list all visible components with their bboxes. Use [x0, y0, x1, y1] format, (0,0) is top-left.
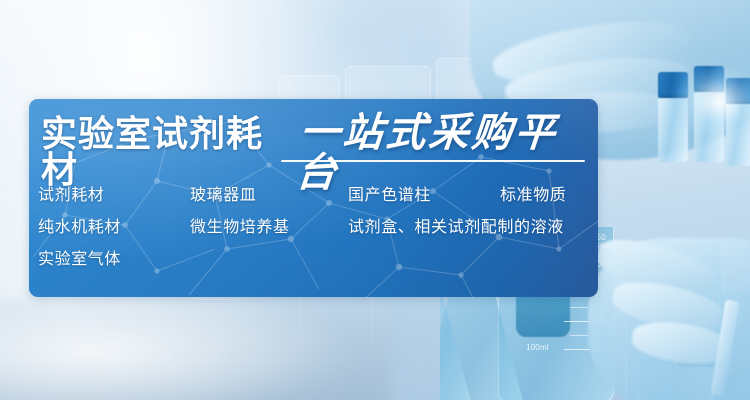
category-item[interactable]: 试剂耗材: [38, 179, 104, 211]
category-item[interactable]: 玻璃器皿: [190, 179, 256, 211]
category-item[interactable]: 实验室气体: [38, 243, 121, 275]
category-item[interactable]: 试剂盒、相关试剂配制的溶液: [348, 211, 564, 243]
graduation-tick: [570, 307, 588, 308]
category-row: 实验室气体: [29, 243, 598, 275]
category-row: 纯水机耗材 微生物培养基 试剂盒、相关试剂配制的溶液: [29, 211, 598, 243]
category-item[interactable]: 微生物培养基: [190, 211, 290, 243]
promo-banner: 实验室试剂耗材 一站式采购平台 试剂耗材 玻璃器皿 国产色谱柱 标准物质 纯水机…: [29, 99, 598, 297]
background-blur-band: [0, 300, 390, 400]
category-item[interactable]: 纯水机耗材: [38, 211, 121, 243]
graduation-tick: [564, 321, 590, 322]
category-list: 试剂耗材 玻璃器皿 国产色谱柱 标准物质 纯水机耗材 微生物培养基 试剂盒、相关…: [29, 179, 598, 275]
graduation-tick: [564, 349, 590, 350]
light-flare: [676, 66, 750, 136]
category-item[interactable]: 国产色谱柱: [348, 179, 431, 211]
banner-image: 250 APPROX 200 150 100 50 GG-17 100ml SL…: [0, 0, 750, 400]
category-item[interactable]: 标准物质: [500, 179, 566, 211]
category-row: 试剂耗材 玻璃器皿 国产色谱柱 标准物质: [29, 179, 598, 211]
headline-underline: [281, 160, 585, 162]
graduation-tick: [570, 335, 588, 336]
volume-label: 100ml: [526, 343, 549, 352]
